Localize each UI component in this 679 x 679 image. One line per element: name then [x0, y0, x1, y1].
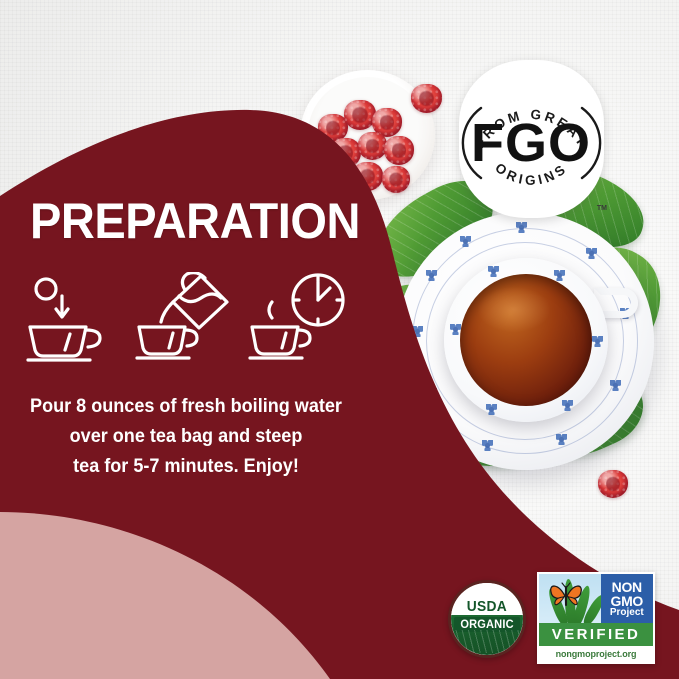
- instruction-line-2: over one tea bag and steep: [17, 422, 355, 452]
- non-gmo-text-panel: NON GMO Project: [601, 574, 653, 623]
- instructions-text: Pour 8 ounces of fresh boiling water ove…: [17, 392, 355, 482]
- non-gmo-url: nongmoproject.org: [556, 649, 637, 659]
- verified-label: VERIFIED: [552, 626, 640, 643]
- organic-label: ORGANIC: [460, 617, 513, 631]
- verified-bar: VERIFIED: [539, 623, 653, 646]
- preparation-steps: [18, 272, 348, 364]
- page-title: PREPARATION: [30, 196, 360, 246]
- fgo-brand-badge: FROM GREAT ORIGINS FGO TM: [459, 60, 604, 218]
- usda-organic-seal: USDA ORGANIC: [448, 580, 526, 658]
- trademark-mark: TM: [597, 205, 607, 212]
- product-image-canvas: PREPARATION: [0, 0, 679, 679]
- instruction-line-1: Pour 8 ounces of fresh boiling water: [17, 392, 355, 422]
- non-gmo-verified-seal: NON GMO Project VERIFIED nongmoproject.o…: [537, 572, 655, 664]
- usda-bottom-half: ORGANIC: [451, 615, 523, 655]
- butterfly-icon: [548, 581, 584, 611]
- project-label: Project: [610, 608, 644, 618]
- step-steep-timer-icon: [248, 272, 348, 364]
- usda-organic-box: ORGANIC: [454, 617, 520, 632]
- non-gmo-url-bar: nongmoproject.org: [539, 646, 653, 662]
- gmo-label: GMO: [610, 594, 643, 608]
- usda-top-half: USDA: [451, 583, 523, 616]
- butterfly-grass-art: [539, 574, 601, 623]
- non-label: NON: [612, 580, 642, 594]
- instruction-line-3: tea for 5-7 minutes. Enjoy!: [17, 452, 355, 482]
- non-gmo-top: NON GMO Project: [539, 574, 653, 623]
- usda-label: USDA: [467, 598, 507, 615]
- step-tea-bag-icon: [133, 272, 233, 364]
- svg-text:FGO: FGO: [471, 113, 591, 173]
- step-add-water-icon: [18, 272, 118, 364]
